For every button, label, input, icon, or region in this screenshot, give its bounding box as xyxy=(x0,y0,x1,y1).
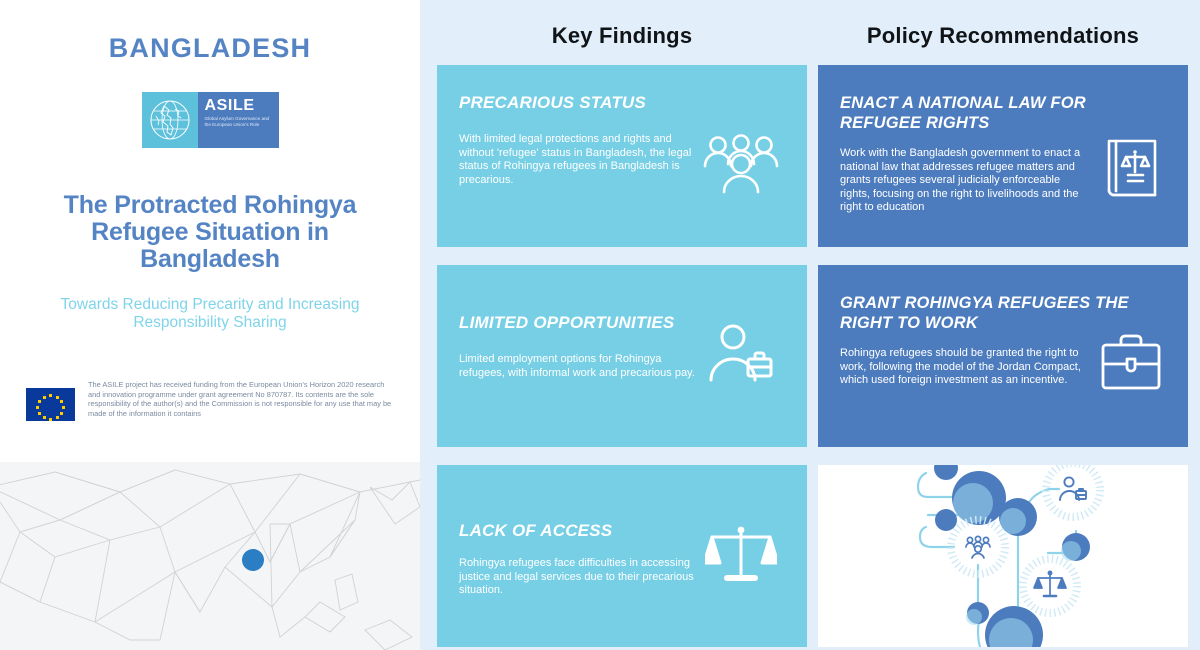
asile-logo: ASILE Global Asylum Governance and the E… xyxy=(0,92,420,148)
page-title: The Protracted Rohingya Refugee Situatio… xyxy=(20,192,400,273)
scales-of-justice-icon xyxy=(705,523,777,590)
finding-card-lack-of-access[interactable]: LACK OF ACCESS Rohingya refugees face di… xyxy=(437,465,807,647)
asile-logo-text: ASILE Global Asylum Governance and the E… xyxy=(198,92,279,148)
policy-body: Rohingya refugees should be granted the … xyxy=(840,347,1083,388)
country-title: BANGLADESH xyxy=(0,33,420,64)
finding-body: Rohingya refugees face difficulties in a… xyxy=(459,557,704,598)
network-diagram xyxy=(818,465,1188,647)
column-header-policy-recommendations: Policy Recommendations xyxy=(818,23,1188,49)
left-panel: BANGLADESH ASILE Global Asylum Governanc… xyxy=(0,0,420,650)
finding-card-limited-opportunities[interactable]: LIMITED OPPORTUNITIES Limited employment… xyxy=(437,265,807,447)
policy-body: Work with the Bangladesh government to e… xyxy=(840,147,1083,215)
worker-with-briefcase-icon xyxy=(708,323,774,390)
funding-notice: The ASILE project has received funding f… xyxy=(26,380,396,421)
policy-card-right-to-work[interactable]: GRANT ROHINGYA REFUGEES THE RIGHT TO WOR… xyxy=(818,265,1188,447)
briefcase-icon xyxy=(1100,333,1162,396)
law-book-icon xyxy=(1104,135,1160,206)
group-of-people-icon xyxy=(702,133,780,200)
policy-card-national-law[interactable]: ENACT A NATIONAL LAW FOR REFUGEE RIGHTS … xyxy=(818,65,1188,247)
finding-card-precarious-status[interactable]: PRECARIOUS STATUS With limited legal pro… xyxy=(437,65,807,247)
asile-logo-tagline: Global Asylum Governance and the Europea… xyxy=(205,116,274,128)
column-header-key-findings: Key Findings xyxy=(437,23,807,49)
page-subtitle: Towards Reducing Precarity and Increasin… xyxy=(30,296,390,332)
policy-title: ENACT A NATIONAL LAW FOR REFUGEE RIGHTS xyxy=(840,93,1162,133)
low-poly-world-map xyxy=(0,462,420,650)
finding-body: With limited legal protections and right… xyxy=(459,133,704,187)
scales-of-justice-badge-icon xyxy=(1023,559,1077,613)
eu-flag-icon xyxy=(26,388,75,421)
worker-with-briefcase-badge-icon xyxy=(1046,465,1100,517)
bangladesh-location-marker xyxy=(242,549,264,571)
funding-notice-text: The ASILE project has received funding f… xyxy=(88,380,396,418)
finding-body: Limited employment options for Rohingya … xyxy=(459,353,704,380)
finding-title: PRECARIOUS STATUS xyxy=(459,93,781,113)
asile-logo-name: ASILE xyxy=(205,97,274,114)
globe-icon xyxy=(142,92,198,148)
policy-title: GRANT ROHINGYA REFUGEES THE RIGHT TO WOR… xyxy=(840,293,1162,333)
